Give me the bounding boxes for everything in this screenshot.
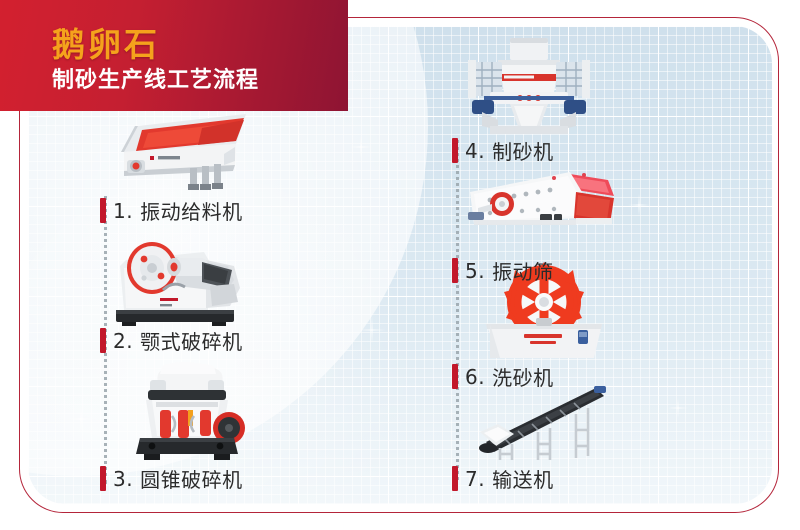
- tick-marker-icon: [452, 466, 458, 491]
- flow-step-5-index: 5.: [465, 259, 485, 283]
- flow-step-2-label: 2. 颚式破碎机: [100, 326, 243, 355]
- flow-step-4-label: 4. 制砂机: [452, 136, 554, 165]
- flow-step-1-name: 振动给料机: [140, 196, 243, 225]
- right-flow-column: 4. 制砂机: [440, 34, 740, 504]
- vibrating-feeder-icon: [102, 108, 252, 192]
- poster-canvas: 1. 振动给料机: [0, 0, 800, 530]
- tick-marker-icon: [452, 258, 458, 283]
- flow-step-5-label: 5. 振动筛: [452, 256, 554, 285]
- flow-step-4-name: 制砂机: [492, 136, 554, 165]
- tick-marker-icon: [452, 364, 458, 389]
- flow-step-6-label: 6. 洗砂机: [452, 362, 554, 391]
- flow-step-1-label: 1. 振动给料机: [100, 196, 243, 225]
- belt-conveyor-icon: [468, 386, 616, 464]
- flow-step-4-index: 4.: [465, 139, 485, 163]
- tick-marker-icon: [452, 138, 458, 163]
- flow-step-5-name: 振动筛: [492, 256, 554, 285]
- flow-step-6-index: 6.: [465, 365, 485, 389]
- tick-marker-icon: [100, 466, 106, 491]
- flow-step-6-name: 洗砂机: [492, 362, 554, 391]
- flow-step-2-name: 颚式破碎机: [140, 326, 243, 355]
- banner-title-main: 鹅卵石: [52, 18, 160, 66]
- tick-marker-icon: [100, 328, 106, 353]
- left-flow-column: 1. 振动给料机: [86, 108, 356, 504]
- sand-making-machine-icon: [454, 34, 604, 138]
- vibrating-screen-icon: [458, 166, 618, 242]
- flow-step-1-index: 1.: [113, 199, 133, 223]
- flow-step-7-label: 7. 输送机: [452, 464, 554, 493]
- flow-step-3-index: 3.: [113, 467, 133, 491]
- title-banner: 鹅卵石 制砂生产线工艺流程: [0, 0, 348, 111]
- flow-step-7-name: 输送机: [492, 464, 554, 493]
- flow-step-3-name: 圆锥破碎机: [140, 464, 243, 493]
- flow-step-2-index: 2.: [113, 329, 133, 353]
- banner-title-sub: 制砂生产线工艺流程: [52, 62, 259, 94]
- flow-step-3-label: 3. 圆锥破碎机: [100, 464, 243, 493]
- flow-step-7-index: 7.: [465, 467, 485, 491]
- cone-crusher-icon: [116, 356, 266, 464]
- tick-marker-icon: [100, 198, 106, 223]
- jaw-crusher-icon: [108, 226, 258, 326]
